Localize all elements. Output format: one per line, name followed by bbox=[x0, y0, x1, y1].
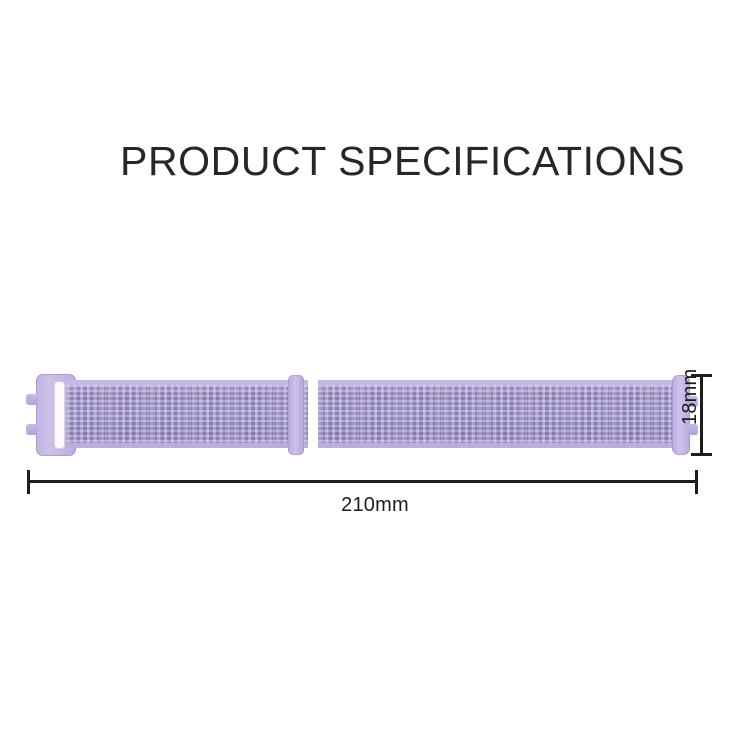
product-specification-page: PRODUCT SPECIFICATIONS 18mm 210mm bbox=[0, 0, 750, 750]
length-dimension-cap-right bbox=[695, 470, 698, 494]
page-title: PRODUCT SPECIFICATIONS bbox=[120, 138, 685, 185]
strap-keeper-loop bbox=[288, 375, 304, 455]
length-dimension-label: 210mm bbox=[0, 494, 750, 517]
length-dimension-stem bbox=[28, 480, 697, 483]
width-dimension-cap-bottom bbox=[691, 453, 712, 456]
left-lug-top-icon bbox=[26, 394, 38, 405]
left-lug-bottom-icon bbox=[26, 424, 38, 435]
buckle-slot bbox=[54, 381, 65, 449]
strap-band-left-section bbox=[66, 380, 308, 448]
strap-band-right-section bbox=[318, 380, 672, 448]
watch-strap-illustration bbox=[18, 374, 698, 456]
width-dimension-label: 18mm bbox=[679, 355, 702, 425]
